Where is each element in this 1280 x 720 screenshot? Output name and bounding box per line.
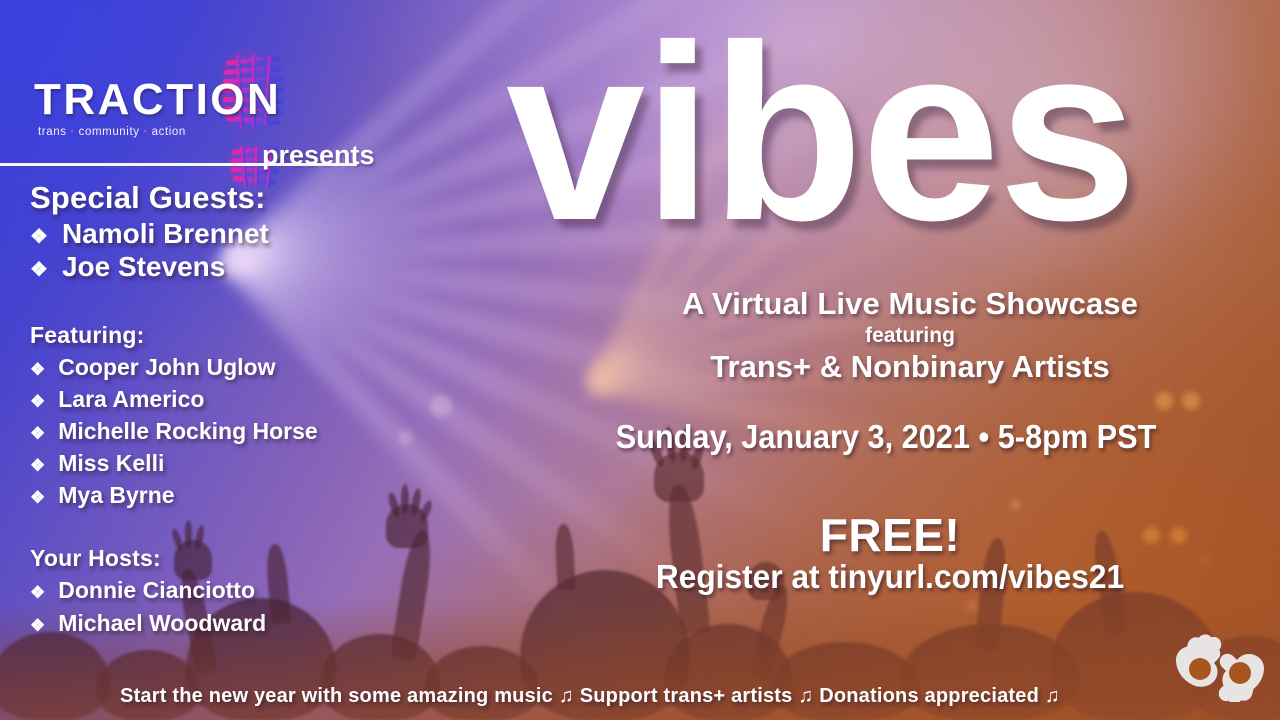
guest-name: Joe Stevens: [62, 251, 225, 284]
hosts-list: ❖ Donnie Cianciotto ❖ Michael Woodward: [30, 574, 460, 638]
diamond-bullet-icon: ❖: [30, 425, 45, 442]
special-guests-list: ❖ Namoli Brennet ❖ Joe Stevens: [30, 218, 460, 284]
host-name: Michael Woodward: [58, 607, 266, 639]
logo-wordmark: TRACTION: [34, 78, 281, 122]
artist-name: Cooper John Uglow: [58, 351, 275, 383]
list-item: ❖ Michelle Rocking Horse: [30, 415, 460, 447]
list-item: ❖ Cooper John Uglow: [30, 351, 460, 383]
event-subtitle-block: A Virtual Live Music Showcase featuring …: [580, 286, 1240, 385]
special-guests-heading: Special Guests:: [30, 180, 460, 216]
diamond-bullet-icon: ❖: [30, 361, 45, 378]
footer-banner: Start the new year with some amazing mus…: [0, 685, 1280, 708]
artist-name: Lara Americo: [58, 383, 204, 415]
list-item: ❖ Joe Stevens: [30, 251, 460, 284]
diamond-bullet-icon: ❖: [30, 260, 48, 280]
event-title: vibes: [506, 8, 1135, 258]
event-datetime: Sunday, January 3, 2021 • 5-8pm PST: [588, 418, 1183, 456]
hosts-heading: Your Hosts:: [30, 545, 460, 572]
list-item: ❖ Lara Americo: [30, 383, 460, 415]
list-item: ❖ Mya Byrne: [30, 479, 460, 511]
diamond-bullet-icon: ❖: [30, 393, 45, 410]
artist-name: Miss Kelli: [58, 447, 164, 479]
artist-name: Mya Byrne: [58, 479, 174, 511]
host-name: Donnie Cianciotto: [58, 574, 255, 606]
traction-logo: TRACTION trans · community · action pres…: [34, 22, 394, 162]
list-item: ❖ Namoli Brennet: [30, 218, 460, 251]
diamond-bullet-icon: ❖: [30, 584, 45, 601]
logo-tagline: trans · community · action: [38, 126, 186, 138]
showcase-line: A Virtual Live Music Showcase: [580, 286, 1240, 322]
list-item: ❖ Donnie Cianciotto: [30, 574, 460, 606]
price-label: FREE!: [660, 508, 1120, 562]
registration-link[interactable]: Register at tinyurl.com/vibes21: [650, 558, 1130, 596]
diamond-bullet-icon: ❖: [30, 617, 45, 634]
diamond-bullet-icon: ❖: [30, 489, 45, 506]
header-divider: [0, 163, 357, 166]
lineup-column: Special Guests: ❖ Namoli Brennet ❖ Joe S…: [30, 180, 460, 639]
artist-name: Michelle Rocking Horse: [58, 415, 317, 447]
event-flyer: TRACTION trans · community · action pres…: [0, 0, 1280, 720]
sign-language-interpretation-icon: [1174, 634, 1266, 702]
featuring-label: featuring: [580, 324, 1240, 348]
artists-line: Trans+ & Nonbinary Artists: [580, 349, 1240, 385]
presents-label: presents: [262, 140, 375, 171]
guest-name: Namoli Brennet: [62, 218, 269, 251]
list-item: ❖ Michael Woodward: [30, 607, 460, 639]
list-item: ❖ Miss Kelli: [30, 447, 460, 479]
diamond-bullet-icon: ❖: [30, 457, 45, 474]
featuring-list: ❖ Cooper John Uglow ❖ Lara Americo ❖ Mic…: [30, 351, 460, 512]
diamond-bullet-icon: ❖: [30, 227, 48, 247]
featuring-heading: Featuring:: [30, 322, 460, 349]
